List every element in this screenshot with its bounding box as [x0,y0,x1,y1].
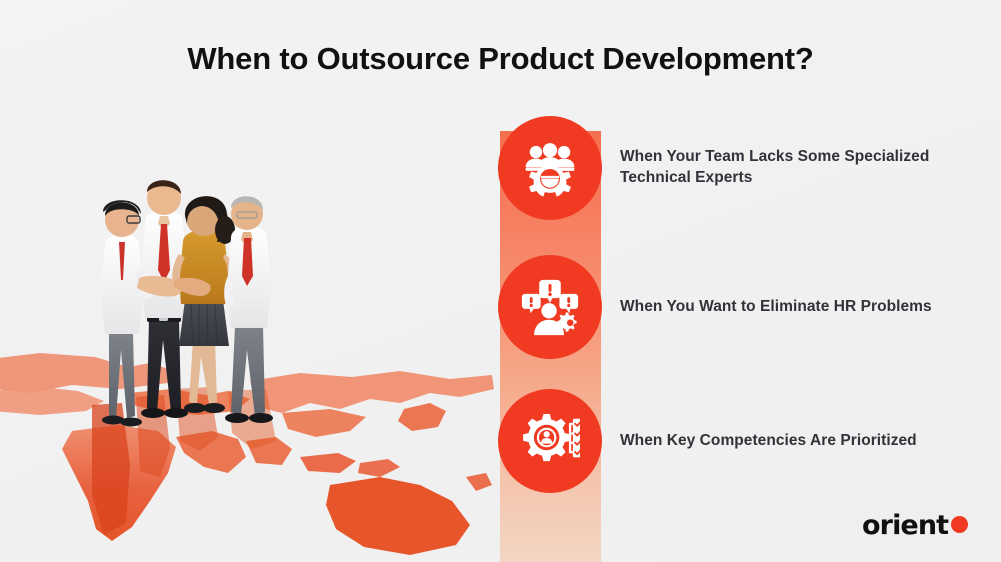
team-gear-icon [520,138,580,198]
hr-problems-icon [520,277,580,337]
slide-canvas: When to Outsource Product Development? [0,0,1001,562]
list-item: When You Want to Eliminate HR Problems [498,255,978,359]
orient-wordmark: orient [862,512,948,539]
icon-badge-1 [498,116,602,220]
list-item: When Your Team Lacks Some Specialized Te… [498,116,978,220]
people-photo-group [75,150,315,440]
icon-badge-2 [498,255,602,359]
competency-checklist-icon [520,411,580,471]
list-item-label-1-line2: Technical Experts [620,168,978,189]
orient-logo: orient [862,508,974,542]
illustration-business-handshake-on-world-map [0,150,495,562]
list-item-label-2: When You Want to Eliminate HR Problems [620,297,978,318]
list-item-label-1-line1: When Your Team Lacks Some Specialized [620,147,978,168]
icon-badge-3 [498,389,602,493]
orient-dot-icon [951,516,968,533]
list-item-label-3: When Key Competencies Are Prioritized [620,431,978,452]
list-item-label-1: When Your Team Lacks Some Specialized Te… [620,147,978,188]
list-item-label-3-line1: When Key Competencies Are Prioritized [620,431,978,452]
list-item: When Key Competencies Are Prioritized [498,389,978,493]
list-item-label-2-line1: When You Want to Eliminate HR Problems [620,297,978,318]
page-title: When to Outsource Product Development? [0,41,1001,77]
